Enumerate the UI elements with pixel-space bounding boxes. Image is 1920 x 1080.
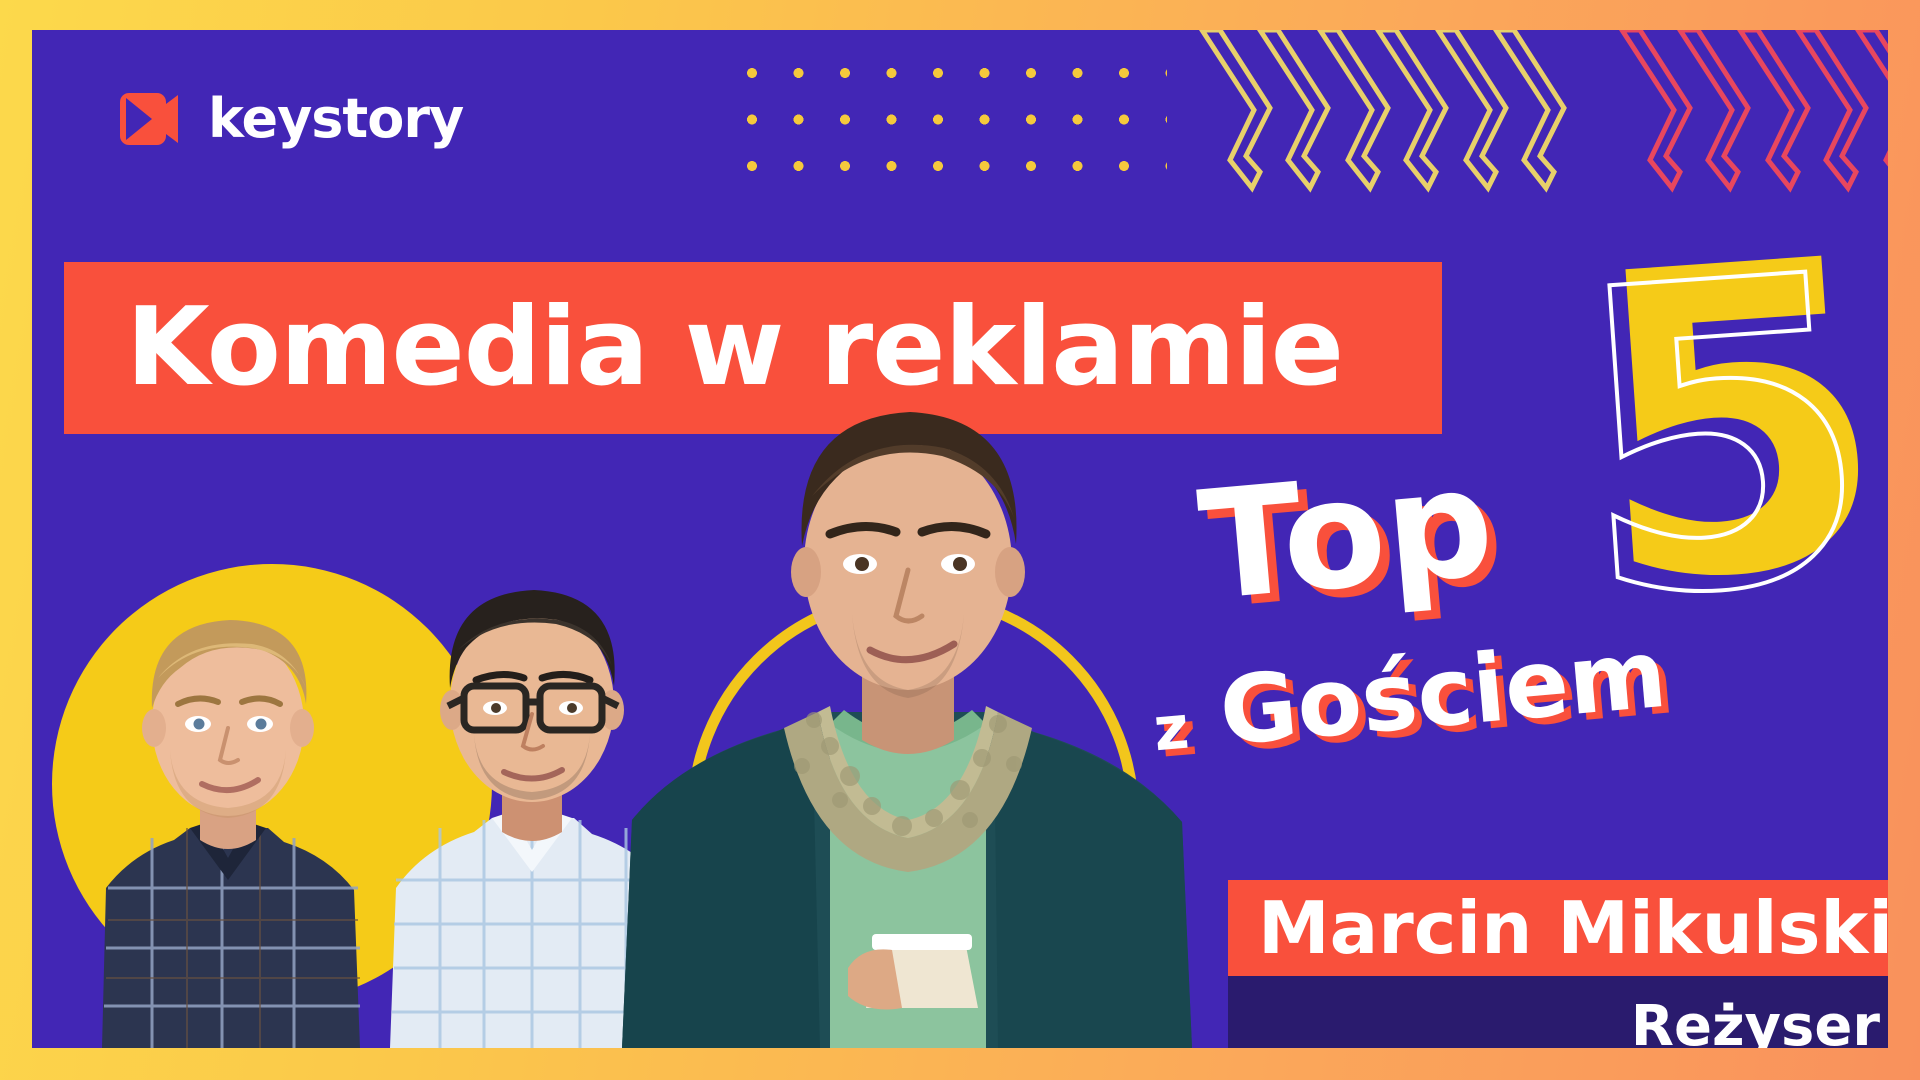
logo-wordmark: keystory bbox=[208, 92, 463, 146]
video-camera-icon bbox=[120, 93, 186, 145]
top5-block: 5 5 Top z Gościem bbox=[1172, 260, 1888, 730]
guest-name-banner: Marcin Mikulski bbox=[1228, 880, 1888, 976]
keystory-logo[interactable]: keystory bbox=[120, 92, 463, 146]
guest-role-banner: Reżyser bbox=[1228, 976, 1888, 1048]
rank-number-outline: 5 bbox=[1565, 266, 1879, 613]
with-guest-word: Gościem bbox=[1216, 620, 1671, 768]
top-label: Top bbox=[1194, 448, 1499, 623]
chevron-yellow-decoration bbox=[1192, 30, 1592, 200]
thumbnail-root: keystory Komedia w reklamie bbox=[0, 0, 1920, 1080]
host-photo-1 bbox=[62, 528, 392, 1048]
thumbnail-canvas: keystory Komedia w reklamie bbox=[32, 30, 1888, 1048]
guest-role: Reżyser bbox=[1631, 999, 1880, 1048]
guest-name: Marcin Mikulski bbox=[1258, 892, 1888, 964]
guest-photo bbox=[562, 368, 1252, 1048]
with-guest-label: z Gościem bbox=[1149, 628, 1670, 767]
dot-grid-decoration bbox=[747, 68, 1167, 178]
with-guest-prefix: z bbox=[1151, 692, 1192, 765]
